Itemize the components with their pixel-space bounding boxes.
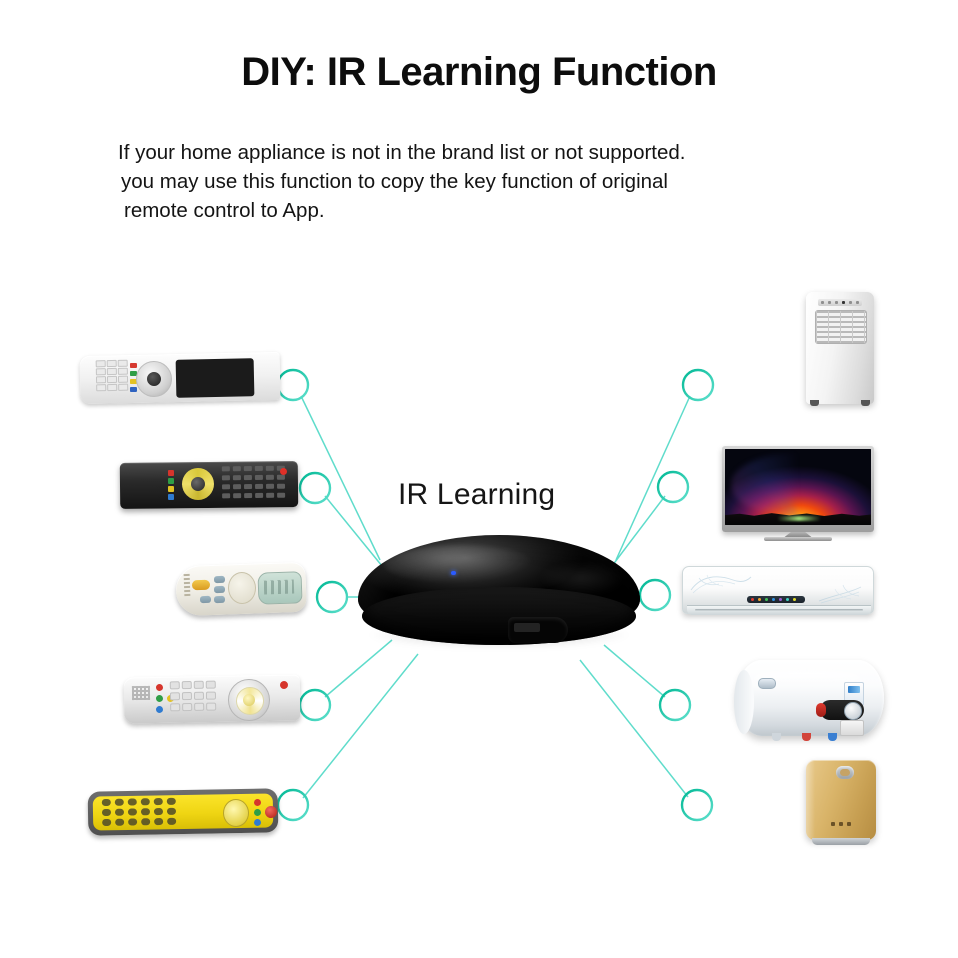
description-line-2: you may use this function to copy the ke… (121, 167, 878, 196)
description-line-3: remote control to App. (124, 196, 878, 225)
appliance-split-ac (682, 566, 874, 628)
remote-ac-lcd-display (257, 571, 302, 605)
remote-ac-power-button (192, 580, 210, 591)
air-purifier-base (812, 838, 870, 845)
remote-yellow-keypad (102, 797, 223, 829)
page-description: If your home appliance is not in the bra… (118, 138, 878, 225)
remote-white-tv-key-blue (130, 387, 137, 392)
hub-usb-port-inner (514, 623, 540, 632)
remote-ac-button-2 (214, 586, 225, 593)
hub-usb-port (508, 617, 568, 643)
appliance-portable-ac (806, 292, 874, 412)
remote-ac-button-4 (200, 596, 211, 603)
remote-yellow (88, 786, 278, 842)
remote-white-tv-keypad (176, 358, 255, 398)
node-remote-yellow (278, 790, 308, 820)
water-heater-end-cap (734, 670, 754, 734)
node-appliance-portable-ac (683, 370, 713, 400)
air-purifier-buttons (831, 822, 853, 827)
tv-screen (725, 449, 871, 525)
air-purifier-body (806, 760, 876, 840)
appliance-water-heater (736, 656, 884, 746)
remote-black-av-power-key (280, 468, 287, 475)
remote-black-av-key-red (168, 470, 174, 476)
ir-learning-infographic: DIY: IR Learning Function If your home a… (0, 0, 958, 958)
center-label: IR Learning (398, 478, 555, 512)
node-remote-white-tv (278, 370, 308, 400)
split-ac-indicator-bar (747, 596, 805, 603)
water-heater-control-dial (820, 700, 864, 720)
water-heater-pipe-cold (828, 733, 837, 741)
remote-black-av (120, 456, 298, 518)
split-ac-floral-pattern-left (689, 572, 753, 596)
water-heater-label (840, 720, 864, 736)
split-ac-air-vent (687, 605, 871, 615)
portable-ac-cabinet (806, 292, 874, 404)
remote-black-av-dpad-center (191, 477, 205, 491)
water-heater-dial-indicator (816, 703, 826, 717)
split-ac-shell (682, 566, 874, 614)
water-heater-pipe-hot (802, 733, 811, 741)
remote-silver-cable-keypad (158, 679, 223, 716)
tv-stand-base (764, 537, 832, 541)
line-appliance-air-purifier (580, 660, 688, 797)
remote-ac-button-1 (214, 576, 225, 583)
remote-silver-cable-grille (132, 686, 150, 700)
portable-ac-control-panel (818, 299, 862, 306)
hub-rim (362, 587, 636, 645)
page-title: DIY: IR Learning Function (0, 50, 958, 95)
node-appliance-tv (658, 472, 688, 502)
remote-black-av-dpad (182, 468, 214, 500)
node-appliance-split-ac (640, 580, 670, 610)
remote-black-av-key-blue (168, 494, 174, 500)
water-heater-dial-knob (844, 702, 862, 720)
remote-ac-button-3 (214, 596, 225, 603)
remote-white-tv-key-red (130, 363, 137, 368)
node-remote-ac (317, 582, 347, 612)
line-remote-yellow (303, 654, 418, 798)
remote-black-av-keypad (222, 466, 288, 503)
appliance-tv (722, 446, 874, 542)
hub-led-indicator (451, 571, 456, 575)
description-line-1: If your home appliance is not in the bra… (118, 138, 878, 167)
water-heater-pipe-center (772, 733, 781, 741)
portable-ac-casters (810, 400, 870, 406)
split-ac-floral-pattern-right (801, 583, 863, 605)
remote-yellow-key-red (254, 799, 261, 806)
node-appliance-water-heater (660, 690, 690, 720)
node-appliance-air-purifier (682, 790, 712, 820)
remote-white-tv-grid (96, 360, 129, 397)
remote-black-av-key-green (168, 478, 174, 484)
water-heater-tank (736, 660, 884, 736)
remote-ac (176, 556, 306, 626)
node-remote-black-av (300, 473, 330, 503)
remote-yellow-key-blue (254, 819, 261, 826)
node-remote-silver-cable (300, 690, 330, 720)
remote-silver-cable (124, 670, 300, 732)
portable-ac-grille (815, 310, 867, 344)
hub-highlight (384, 545, 534, 583)
remote-black-av-key-yellow (168, 486, 174, 492)
air-purifier-edge-highlight (806, 760, 815, 840)
air-purifier-handle (836, 766, 854, 779)
ir-blaster-hub (358, 535, 640, 655)
appliance-air-purifier (806, 760, 876, 848)
water-heater-inlet-cap (758, 678, 776, 689)
tv-screen-aurora (731, 453, 865, 517)
remote-white-tv (80, 348, 280, 410)
tv-screen-glow (777, 516, 821, 521)
remote-yellow-key-green (254, 809, 261, 816)
